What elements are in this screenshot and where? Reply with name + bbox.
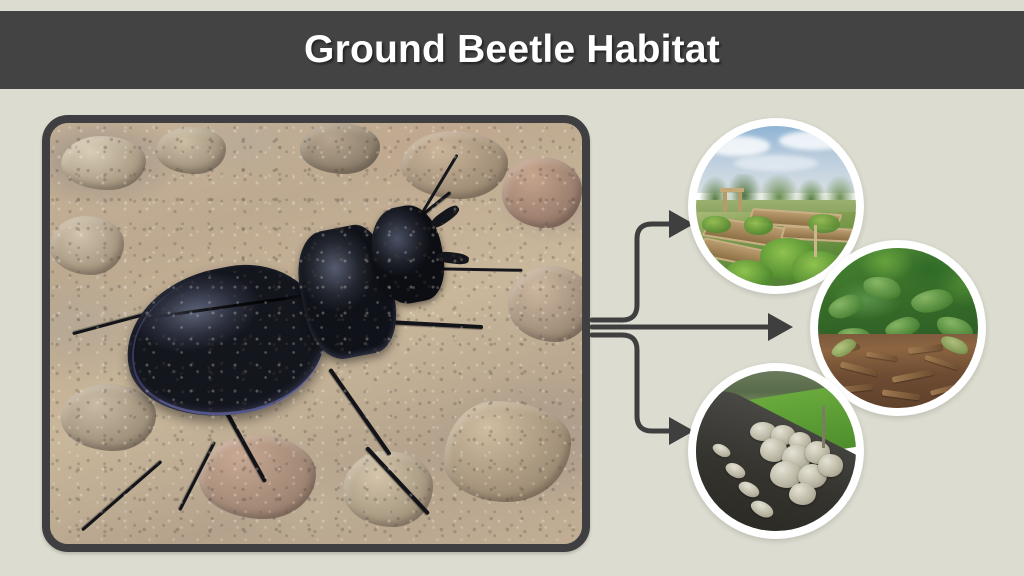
arbor-post [723, 190, 727, 212]
slide-canvas: Ground Beetle Habitat [0, 0, 1024, 576]
crop-clump [744, 216, 773, 235]
page-title: Ground Beetle Habitat [304, 28, 720, 72]
fence-post [814, 225, 817, 257]
crop-clump [702, 216, 731, 234]
cloud [706, 136, 770, 157]
arbor-post [738, 190, 742, 212]
cloud [779, 131, 849, 150]
arrow-to-rock-garden [592, 335, 672, 431]
habitat-rock-garden [688, 363, 864, 539]
arrow-to-vegetable-garden [592, 224, 672, 320]
arrow-to-mulched-bed-head [768, 313, 793, 341]
arbor-beam [720, 188, 744, 192]
river-rock [789, 483, 816, 505]
soil-grit-texture [50, 123, 582, 544]
title-band: Ground Beetle Habitat [0, 11, 1024, 89]
garden-stake [822, 406, 825, 448]
ground-beetle-photo [42, 115, 590, 552]
river-rock [818, 454, 844, 476]
cloud [734, 155, 817, 171]
crop-clump [808, 214, 840, 233]
crop-clump [725, 260, 773, 286]
habitat-rock-garden-image [696, 371, 856, 531]
beetle-photo-canvas [50, 123, 582, 544]
